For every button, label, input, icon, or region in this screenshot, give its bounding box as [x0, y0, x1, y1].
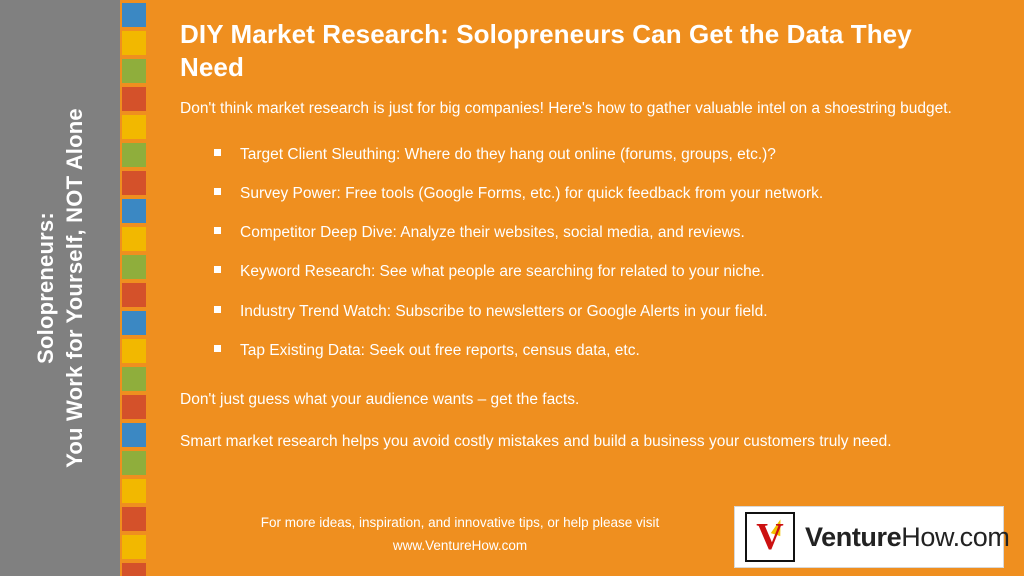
brand-wordmark: VentureHow.com — [805, 522, 1009, 553]
color-chip-column — [120, 0, 148, 576]
color-chip — [122, 479, 146, 503]
square-bullet-icon — [214, 306, 221, 313]
list-item-label: Survey Power: Free tools (Google Forms, … — [240, 185, 823, 202]
color-chip — [122, 563, 146, 576]
square-bullet-icon — [214, 149, 221, 156]
color-chip — [122, 311, 146, 335]
slide-root: Solopreneurs: You Work for Yourself, NOT… — [0, 0, 1024, 576]
square-bullet-icon — [214, 227, 221, 234]
vertical-title-line-1: Solopreneurs: — [31, 108, 60, 468]
color-chip — [122, 367, 146, 391]
list-item: Target Client Sleuthing: Where do they h… — [214, 143, 996, 166]
color-chip — [122, 255, 146, 279]
footer-line-2[interactable]: www.VentureHow.com — [180, 535, 740, 558]
footer-line-1: For more ideas, inspiration, and innovat… — [180, 512, 740, 535]
square-bullet-icon — [214, 266, 221, 273]
logo-mark-letter: V — [756, 518, 783, 556]
color-chip — [122, 507, 146, 531]
list-item-label: Competitor Deep Dive: Analyze their webs… — [240, 224, 745, 241]
square-bullet-icon — [214, 345, 221, 352]
venture-v-icon: V — [745, 512, 795, 562]
left-side-band: Solopreneurs: You Work for Yourself, NOT… — [0, 0, 120, 576]
closing-line-1: Don't just guess what your audience want… — [180, 388, 996, 412]
color-chip — [122, 423, 146, 447]
closing-block: Don't just guess what your audience want… — [180, 388, 996, 454]
color-chip — [122, 283, 146, 307]
list-item: Competitor Deep Dive: Analyze their webs… — [214, 221, 996, 244]
color-chip — [122, 535, 146, 559]
list-item-label: Target Client Sleuthing: Where do they h… — [240, 146, 776, 163]
brand-name-bold: Venture — [805, 522, 901, 552]
vertical-title-line-2: You Work for Yourself, NOT Alone — [60, 108, 89, 468]
color-chip — [122, 3, 146, 27]
brand-logo: V VentureHow.com — [734, 506, 1004, 568]
slide-content: DIY Market Research: Solopreneurs Can Ge… — [148, 0, 1024, 576]
color-chip — [122, 143, 146, 167]
color-chip — [122, 339, 146, 363]
color-chip — [122, 87, 146, 111]
list-item-label: Keyword Research: See what people are se… — [240, 263, 765, 280]
color-chip — [122, 451, 146, 475]
vertical-series-title: Solopreneurs: You Work for Yourself, NOT… — [0, 0, 120, 576]
bullet-list: Target Client Sleuthing: Where do they h… — [180, 143, 996, 363]
list-item: Tap Existing Data: Seek out free reports… — [214, 339, 996, 362]
subheading-text: Don't think market research is just for … — [180, 97, 996, 121]
list-item-label: Industry Trend Watch: Subscribe to newsl… — [240, 303, 768, 320]
color-chip — [122, 115, 146, 139]
list-item-label: Tap Existing Data: Seek out free reports… — [240, 342, 640, 359]
color-chip — [122, 59, 146, 83]
color-chip — [122, 199, 146, 223]
footer-call-to-action: For more ideas, inspiration, and innovat… — [180, 512, 740, 558]
closing-line-2: Smart market research helps you avoid co… — [180, 430, 996, 454]
color-chip — [122, 395, 146, 419]
color-chip — [122, 227, 146, 251]
color-chip — [122, 171, 146, 195]
page-title: DIY Market Research: Solopreneurs Can Ge… — [180, 18, 980, 85]
color-chip — [122, 31, 146, 55]
list-item: Industry Trend Watch: Subscribe to newsl… — [214, 300, 996, 323]
square-bullet-icon — [214, 188, 221, 195]
brand-name-light: How.com — [901, 522, 1009, 552]
list-item: Survey Power: Free tools (Google Forms, … — [214, 182, 996, 205]
list-item: Keyword Research: See what people are se… — [214, 260, 996, 283]
